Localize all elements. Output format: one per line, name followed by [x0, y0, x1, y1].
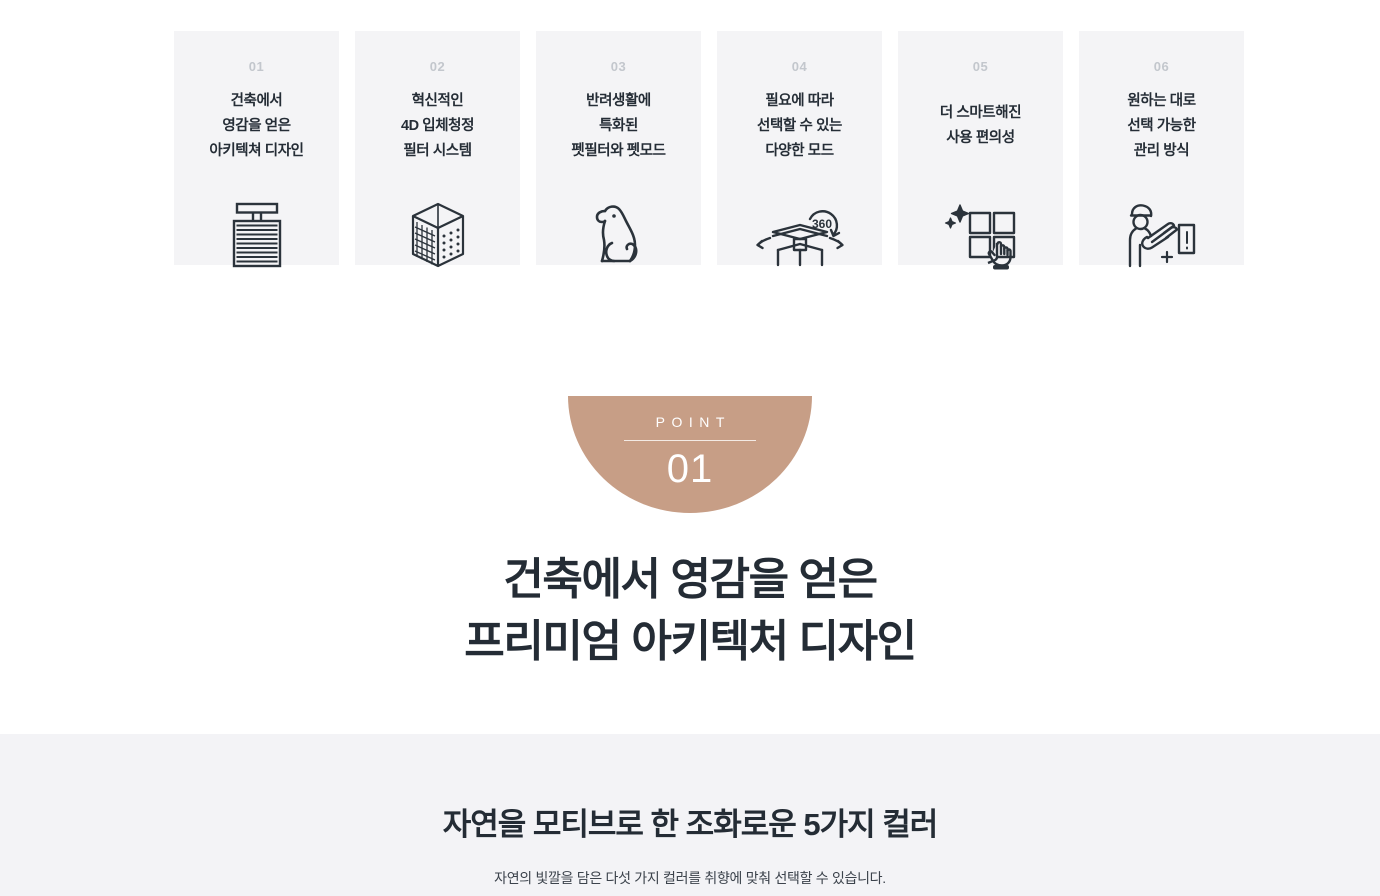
touch-grid-icon: [898, 199, 1063, 271]
card-title-line: 더 스마트해진: [940, 101, 1021, 126]
card-title-line: 반려생활에: [586, 89, 651, 114]
point-heading-line: 건축에서 영감을 얻은: [464, 549, 916, 611]
card-title: 더 스마트해진 사용 편의성: [898, 87, 1063, 165]
card-title-line: 필요에 따라: [765, 89, 833, 114]
point-divider: [624, 440, 756, 441]
card-number: 04: [792, 60, 807, 73]
card-title-line: 건축에서: [231, 89, 283, 114]
point-section: POINT 01 건축에서 영감을 얻은 프리미엄 아키텍처 디자인: [0, 396, 1380, 673]
card-title-line: 다양한 모드: [765, 139, 833, 164]
card-title-line: 관리 방식: [1134, 139, 1189, 164]
card-title: 반려생활에 특화된 펫필터와 펫모드: [536, 87, 701, 165]
point-heading: 건축에서 영감을 얻은 프리미엄 아키텍처 디자인: [464, 549, 916, 673]
card-title-line: 펫필터와 펫모드: [571, 139, 665, 164]
point-heading-line: 프리미엄 아키텍처 디자인: [464, 611, 916, 673]
card-title: 필요에 따라 선택할 수 있는 다양한 모드: [717, 87, 882, 165]
card-title-line: 특화된: [599, 114, 638, 139]
filter-cube-icon: [355, 199, 520, 271]
card-title-line: 사용 편의성: [946, 126, 1014, 151]
card-title-line: 필터 시스템: [403, 139, 471, 164]
card-title-line: 혁신적인: [412, 89, 464, 114]
color-section-subtitle: 자연의 빛깔을 담은 다섯 가지 컬러를 취향에 맞춰 선택할 수 있습니다.: [494, 868, 886, 888]
card-number: 06: [1154, 60, 1169, 73]
feature-card-03[interactable]: 03 반려생활에 특화된 펫필터와 펫모드: [536, 31, 701, 265]
card-number: 01: [249, 60, 264, 73]
card-number: 03: [611, 60, 626, 73]
card-title-line: 원하는 대로: [1127, 89, 1195, 114]
card-title: 원하는 대로 선택 가능한 관리 방식: [1079, 87, 1244, 165]
card-title-line: 영감을 얻은: [222, 114, 290, 139]
feature-card-04[interactable]: 04 필요에 따라 선택할 수 있는 다양한 모드 360: [717, 31, 882, 265]
point-badge: POINT 01: [568, 396, 812, 513]
feature-card-06[interactable]: 06 원하는 대로 선택 가능한 관리 방식: [1079, 31, 1244, 265]
filter-cleaning-icon: [1079, 199, 1244, 271]
card-title-line: 선택 가능한: [1127, 114, 1195, 139]
dog-icon: [536, 199, 701, 271]
color-section: 자연을 모티브로 한 조화로운 5가지 컬러 자연의 빛깔을 담은 다섯 가지 …: [0, 734, 1380, 896]
card-number: 02: [430, 60, 445, 73]
feature-card-05[interactable]: 05 더 스마트해진 사용 편의성: [898, 31, 1063, 265]
card-title: 건축에서 영감을 얻은 아키텍쳐 디자인: [174, 87, 339, 165]
color-section-heading: 자연을 모티브로 한 조화로운 5가지 컬러: [443, 806, 938, 843]
card-title-line: 아키텍쳐 디자인: [209, 139, 303, 164]
feature-card-strip: 01 건축에서 영감을 얻은 아키텍쳐 디자인 02 혁신적인 4D 입체청정 …: [174, 31, 1254, 265]
louvered-facade-icon: [174, 199, 339, 271]
card-number: 05: [973, 60, 988, 73]
feature-card-01[interactable]: 01 건축에서 영감을 얻은 아키텍쳐 디자인: [174, 31, 339, 265]
airflow-360-icon: 360: [717, 199, 882, 271]
feature-card-02[interactable]: 02 혁신적인 4D 입체청정 필터 시스템: [355, 31, 520, 265]
point-number: 01: [667, 447, 714, 491]
point-label: POINT: [649, 415, 731, 429]
card-title-line: 선택할 수 있는: [757, 114, 842, 139]
card-title: 혁신적인 4D 입체청정 필터 시스템: [355, 87, 520, 165]
card-title-line: 4D 입체청정: [401, 114, 474, 139]
